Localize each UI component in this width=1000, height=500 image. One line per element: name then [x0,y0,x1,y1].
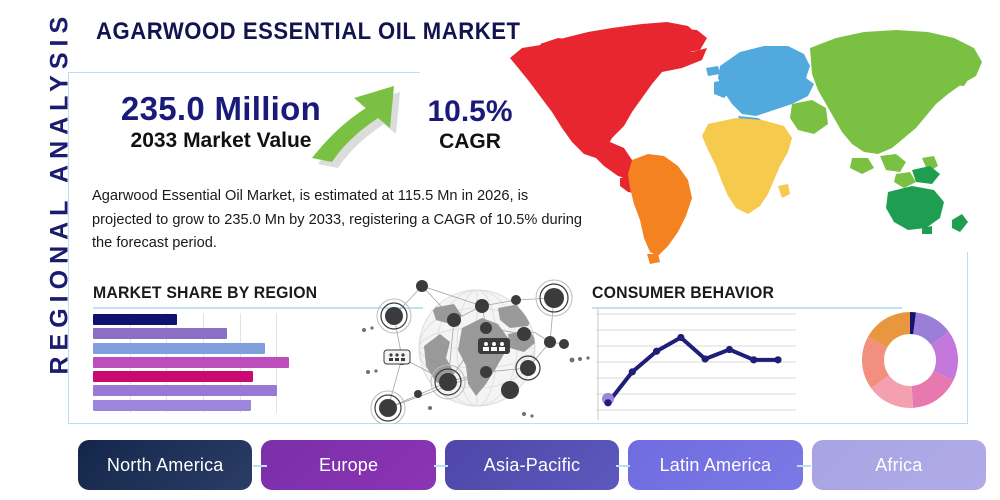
button-connector [434,465,448,467]
line-chart-point [726,346,733,353]
region-button-africa[interactable]: Africa [812,440,986,490]
region-button-row: North AmericaEuropeAsia-PacificLatin Ame… [78,440,986,490]
bar-chart-bar [93,328,227,339]
bar-chart-bar [93,357,289,368]
market-share-bar-chart [93,313,313,413]
global-network-globe-icon [358,272,596,424]
button-connector [616,465,630,467]
line-chart-point [677,334,684,341]
regional-distribution-donut-chart [855,305,965,415]
bar-chart-bar [93,385,277,396]
cagr-label: CAGR [400,130,540,154]
line-chart-point [629,368,636,375]
region-button-europe[interactable]: Europe [261,440,435,490]
kpi-value-label: 2033 Market Value [96,129,346,153]
button-connector [253,465,267,467]
region-button-latin-america[interactable]: Latin America [628,440,802,490]
market-share-title: MARKET SHARE BY REGION [93,283,400,303]
line-chart-point [702,355,709,362]
button-connector [797,465,811,467]
bar-chart-bar [93,400,251,411]
kpi-value: 235.0 Million [96,92,346,127]
page-title: AGARWOOD ESSENTIAL OIL MARKET [96,18,521,46]
region-button-north-america[interactable]: North America [78,440,252,490]
region-button-asia-pacific[interactable]: Asia-Pacific [445,440,619,490]
consumer-behavior-line-chart [596,308,796,420]
line-chart-point [604,399,611,406]
summary-text: Agarwood Essential Oil Market, is estima… [92,185,592,256]
line-chart-point [774,356,781,363]
map-region-asia [790,30,982,188]
bar-chart-bar [93,314,177,325]
consumer-behavior-title: CONSUMER BEHAVIOR [592,283,880,303]
growth-arrow-icon [310,82,410,170]
cagr-value: 10.5% [400,96,540,128]
bar-chart-bar [93,371,253,382]
map-region-south-america [628,154,692,264]
line-chart-point [653,348,660,355]
line-chart-point [750,356,757,363]
infographic-canvas: REGIONAL ANALYSIS AGARWOOD ESSENTIAL OIL… [0,0,1000,500]
bar-chart-bar [93,343,265,354]
map-region-africa [702,118,792,214]
kpi-cagr: 10.5% CAGR [400,96,540,154]
